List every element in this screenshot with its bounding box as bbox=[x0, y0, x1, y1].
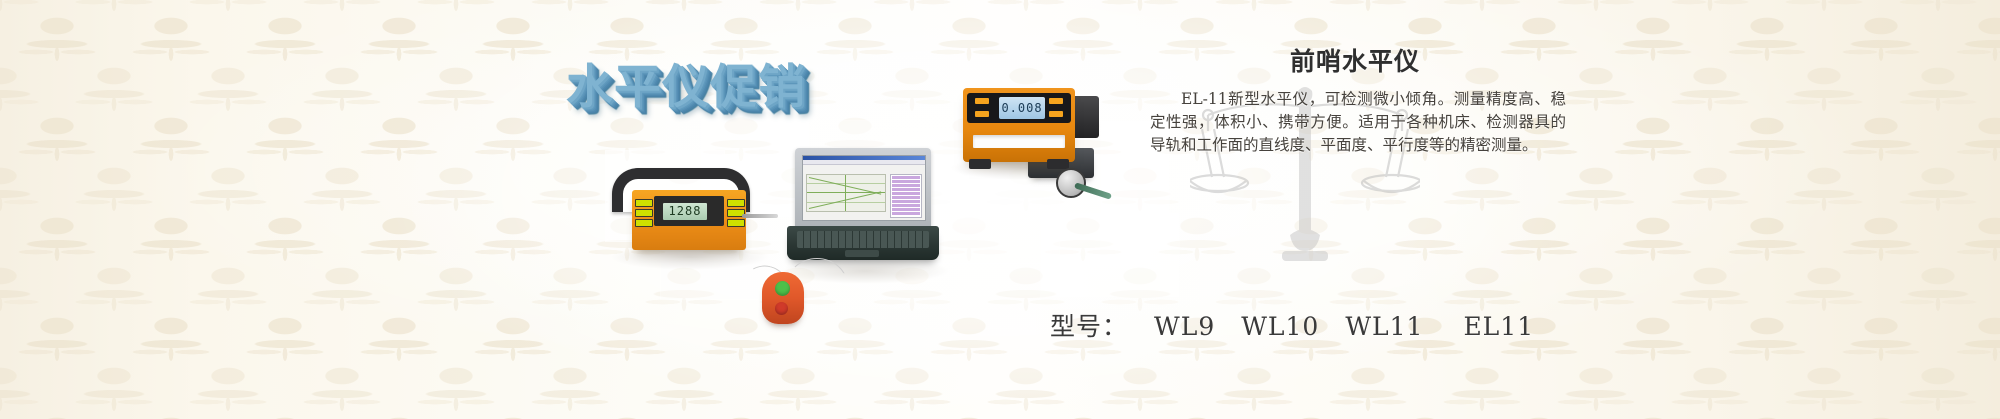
bench-level-display: 0.008 bbox=[999, 97, 1045, 119]
product-description: EL-11新型水平仪，可检测微小倾角。测量精度高、稳定性强，体积小、携带方便。适… bbox=[1140, 88, 1570, 157]
model-wl10: WL10 bbox=[1241, 312, 1319, 341]
accessory-dial-gauge bbox=[1056, 168, 1086, 198]
handheld-level-key bbox=[635, 199, 653, 207]
laptop-lid bbox=[795, 148, 931, 228]
accessory-sensor-module bbox=[1071, 96, 1099, 138]
page-title: 水平仪促销 bbox=[566, 48, 806, 117]
bench-level-key bbox=[1049, 111, 1063, 117]
handheld-level-key bbox=[635, 219, 653, 227]
product-remote-control bbox=[762, 272, 804, 324]
promo-banner: 水平仪促销 1288 bbox=[0, 0, 2000, 419]
product-bench-level: 0.008 bbox=[963, 88, 1075, 162]
bench-level-faceplate: 0.008 bbox=[967, 93, 1071, 123]
model-el11: EL11 bbox=[1463, 312, 1534, 341]
product-laptop bbox=[787, 148, 939, 266]
handheld-level-key bbox=[727, 219, 745, 227]
bench-level-foot bbox=[1047, 159, 1069, 169]
laptop-base bbox=[787, 226, 939, 260]
model-wl9: WL9 bbox=[1154, 312, 1215, 341]
bench-level-key bbox=[975, 98, 989, 104]
model-list: 型号：WL9WL10WL11EL11 bbox=[1050, 307, 1534, 343]
info-column: 前哨水平仪 EL-11新型水平仪，可检测微小倾角。测量精度高、稳定性强，体积小、… bbox=[1140, 48, 1570, 157]
product-heading: 前哨水平仪 bbox=[1140, 48, 1570, 76]
remote-button-green bbox=[775, 281, 790, 296]
product-handheld-level: 1288 bbox=[632, 190, 746, 250]
bench-level-foot bbox=[969, 159, 991, 169]
handheld-level-display: 1288 bbox=[662, 202, 708, 221]
laptop-touchpad bbox=[845, 250, 879, 257]
bench-level-vee-base bbox=[973, 135, 1065, 148]
software-workspace bbox=[803, 165, 925, 221]
remote-button-red bbox=[775, 302, 788, 315]
handheld-level-key bbox=[635, 209, 653, 217]
handheld-level-key bbox=[727, 199, 745, 207]
software-data-panel bbox=[890, 174, 922, 218]
bench-level-key bbox=[1049, 98, 1063, 104]
model-wl11: WL11 bbox=[1345, 312, 1423, 341]
software-measurement-plot bbox=[806, 174, 886, 212]
bench-level-key bbox=[975, 111, 989, 117]
handheld-level-probe bbox=[742, 214, 778, 218]
laptop-keyboard bbox=[797, 231, 929, 248]
model-list-label: 型号： bbox=[1050, 312, 1128, 341]
laptop-screen bbox=[802, 155, 926, 221]
